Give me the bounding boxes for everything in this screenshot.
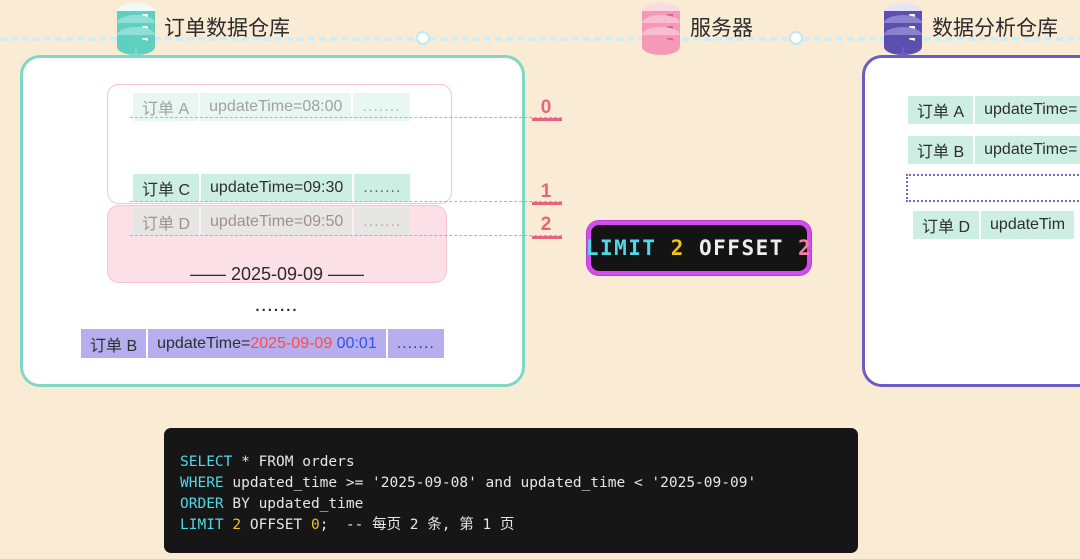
sql-code-block: SELECT * FROM orders WHERE updated_time …	[164, 428, 858, 553]
source-row-highlight: 订单 B updateTime=2025-09-09 00:01 .......	[81, 329, 444, 358]
sql-line4-comment: ; -- 每页 2 条, 第 1 页	[320, 517, 515, 533]
target-row-0: 订单 A updateTime=	[908, 96, 1080, 124]
source-row-2-id: 订单 D	[133, 208, 201, 236]
sql-line3-rest: BY updated_time	[224, 496, 364, 512]
source-row-2-dots: .......	[354, 208, 410, 236]
source-row-2: 订单 D updateTime=09:50 .......	[133, 208, 410, 236]
badge-space-1	[657, 236, 671, 260]
badge-space-3	[784, 236, 798, 260]
source-row-1: 订单 C updateTime=09:30 .......	[133, 174, 410, 202]
source-row-1-id: 订单 C	[133, 174, 201, 202]
badge-limit-value: 2	[671, 236, 685, 260]
target-row-0-id: 订单 A	[908, 96, 975, 124]
index-underline-2	[532, 236, 562, 239]
sql-line2-keyword: WHERE	[180, 475, 224, 491]
target-row-1-id: 订单 B	[908, 136, 975, 164]
header-title-target: 数据分析仓库	[932, 12, 1058, 42]
highlight-date: 2025-09-09	[250, 335, 332, 353]
rail-node-right	[789, 31, 803, 45]
sql-line1-keyword: SELECT	[180, 454, 232, 470]
source-row-highlight-time: updateTime=2025-09-09 00:01	[148, 329, 388, 358]
highlight-prefix: updateTime=	[157, 335, 250, 353]
badge-space-2	[685, 236, 699, 260]
index-label-1: 1	[535, 181, 557, 203]
leader-line-2	[130, 235, 562, 236]
target-row-2-time: updateTim	[981, 211, 1074, 239]
sql-line1-rest: * FROM orders	[232, 454, 354, 470]
source-ellipsis: .......	[107, 298, 447, 315]
target-row-2-id: 订单 D	[913, 211, 981, 239]
source-row-highlight-id: 订单 B	[81, 329, 148, 358]
sql-line4-offset-value: 0	[311, 517, 320, 533]
target-row-1: 订单 B updateTime=	[908, 136, 1080, 164]
database-icon-source	[117, 3, 155, 49]
index-underline-1	[532, 202, 562, 205]
index-label-0: 0	[535, 97, 557, 119]
sql-line4-keyword: LIMIT	[180, 517, 224, 533]
leader-line-1	[130, 201, 562, 202]
database-icon-target	[884, 3, 922, 49]
rail-node-left	[416, 31, 430, 45]
index-label-2: 2	[535, 214, 557, 236]
source-row-highlight-dots: .......	[388, 329, 444, 358]
sql-line4-limit-value: 2	[232, 517, 241, 533]
limit-offset-badge[interactable]: LIMIT 2 OFFSET 2	[587, 221, 811, 275]
diagram-canvas: 订单数据仓库 服务器 数据分析仓库 订单 A updateTi	[0, 0, 1080, 559]
badge-offset-keyword: OFFSET	[699, 236, 784, 260]
index-underline-0	[532, 118, 562, 121]
sql-line3-keyword: ORDER	[180, 496, 224, 512]
header-title-source: 订单数据仓库	[164, 12, 290, 42]
header-title-server: 服务器	[690, 12, 753, 42]
target-row-2: 订单 D updateTim	[913, 211, 1074, 239]
source-row-1-dots: .......	[354, 174, 410, 202]
database-icon-server	[642, 3, 680, 49]
leader-line-0	[130, 117, 562, 118]
badge-offset-value: 2	[798, 236, 812, 260]
target-row-1-time: updateTime=	[975, 136, 1080, 164]
sql-line4-mid: OFFSET	[241, 517, 311, 533]
target-row-placeholder	[906, 174, 1080, 202]
date-separator: —— 2025-09-09 ——	[107, 264, 447, 285]
sql-line2-rest: updated_time >= '2025-09-08' and updated…	[224, 475, 757, 491]
source-row-1-time: updateTime=09:30	[201, 174, 354, 202]
badge-limit-keyword: LIMIT	[586, 236, 657, 260]
highlight-time: 00:01	[337, 335, 377, 353]
target-row-0-time: updateTime=	[975, 96, 1080, 124]
source-row-2-time: updateTime=09:50	[201, 208, 354, 236]
